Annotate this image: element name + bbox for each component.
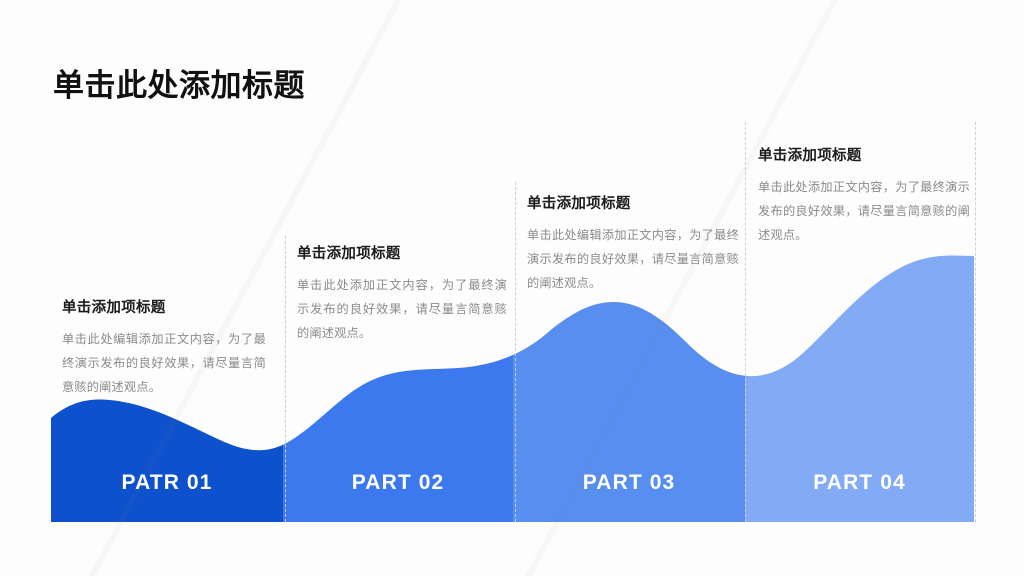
section-body-2[interactable]: 单击此处添加正文内容，为了最终演示发布的良好效果，请尽量言简意赅的阐述观点。 [297, 274, 507, 345]
part-label-4[interactable]: PART 04 [745, 471, 974, 495]
part-label-3[interactable]: PART 03 [513, 471, 745, 495]
page-title[interactable]: 单击此处添加标题 [53, 60, 305, 105]
column-separator-3 [745, 122, 746, 522]
slide-canvas: 单击此处添加标题 单击添加项标题 单击此处编辑添加正文内容，为了最终演示发布的良… [0, 0, 1024, 576]
section-text-block-1: 单击添加项标题 单击此处编辑添加正文内容，为了最终演示发布的良好效果，请尽量言简… [62, 296, 266, 399]
part-label-1[interactable]: PATR 01 [51, 471, 283, 495]
section-body-1[interactable]: 单击此处编辑添加正文内容，为了最终演示发布的良好效果，请尽量言简意赅的阐述观点。 [62, 328, 266, 399]
section-heading-3[interactable]: 单击添加项标题 [527, 192, 739, 213]
section-body-3[interactable]: 单击此处编辑添加正文内容，为了最终演示发布的良好效果，请尽量言简意赅的阐述观点。 [527, 224, 739, 295]
section-body-4[interactable]: 单击此处添加正文内容，为了最终演示发布的良好效果，请尽量言简意赅的阐述观点。 [758, 176, 970, 247]
section-text-block-2: 单击添加项标题 单击此处添加正文内容，为了最终演示发布的良好效果，请尽量言简意赅… [297, 242, 507, 345]
section-heading-1[interactable]: 单击添加项标题 [62, 296, 266, 317]
column-separator-4 [975, 122, 976, 522]
part-label-2[interactable]: PART 02 [283, 471, 513, 495]
section-heading-4[interactable]: 单击添加项标题 [758, 144, 970, 165]
section-text-block-3: 单击添加项标题 单击此处编辑添加正文内容，为了最终演示发布的良好效果，请尽量言简… [527, 192, 739, 295]
section-text-block-4: 单击添加项标题 单击此处添加正文内容，为了最终演示发布的良好效果，请尽量言简意赅… [758, 144, 970, 247]
section-heading-2[interactable]: 单击添加项标题 [297, 242, 507, 263]
